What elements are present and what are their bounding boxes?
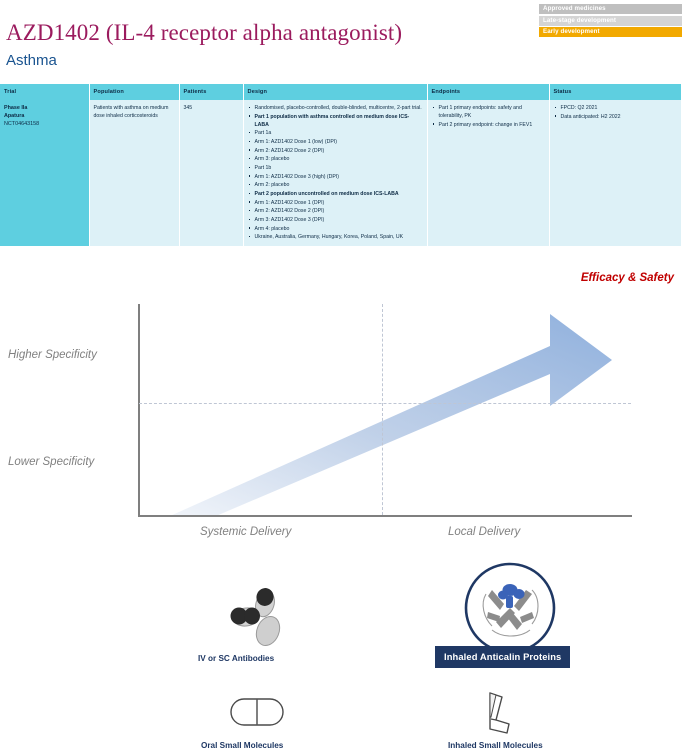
design-list: Randomised, placebo-controlled, double-b… [248, 104, 423, 241]
y-axis-label-high: Higher Specificity [8, 349, 97, 361]
list-item: Arm 3: placebo [248, 155, 423, 163]
list-item: Arm 1: AZD1402 Dose 1 (DPI) [248, 199, 423, 207]
list-item: Arm 4: placebo [248, 225, 423, 233]
list-item: Part 1 primary endpoints: safety and tol… [432, 104, 545, 120]
y-axis-label-low: Lower Specificity [8, 456, 94, 468]
cell-patients: 345 [179, 100, 243, 246]
protein-circle-icon [462, 560, 558, 656]
legend-badge-early-development[interactable]: Early development [539, 27, 682, 37]
antibody-icon [228, 587, 290, 649]
trial-table: Trial Population Patients Design Endpoin… [0, 84, 682, 246]
list-item: Part 2 primary endpoint: change in FEV1 [432, 121, 545, 129]
column-header-design[interactable]: Design [243, 84, 427, 100]
status-list: FPCD: Q2 2021Data anticipated: H2 2022 [554, 104, 677, 121]
quadrant-horizontal-divider [139, 403, 631, 404]
column-header-population[interactable]: Population [89, 84, 179, 100]
positioning-quadrant-diagram: Efficacy & Safety Higher Specificity Low… [0, 262, 682, 556]
list-item: Arm 3: AZD1402 Dose 3 (DPI) [248, 216, 423, 224]
cell-status: FPCD: Q2 2021Data anticipated: H2 2022 [549, 100, 681, 246]
pill-icon [228, 693, 288, 731]
trial-nct-id: NCT04643158 [4, 120, 85, 128]
list-item: Arm 1: AZD1402 Dose 3 (high) (DPI) [248, 173, 423, 181]
column-header-status[interactable]: Status [549, 84, 681, 100]
list-item: Ukraine, Australia, Germany, Hungary, Ko… [248, 233, 423, 241]
x-axis-label-right: Local Delivery [448, 526, 520, 538]
x-axis-line [138, 515, 632, 517]
endpoints-list: Part 1 primary endpoints: safety and tol… [432, 104, 545, 129]
trial-phase: Phase IIa [4, 104, 85, 112]
list-item: Randomised, placebo-controlled, double-b… [248, 104, 423, 112]
quadrant-label-inhaled-anticalin-proteins: Inhaled Anticalin Proteins [435, 646, 570, 668]
list-item: Data anticipated: H2 2022 [554, 113, 677, 121]
list-item: Arm 2: placebo [248, 181, 423, 189]
column-header-patients[interactable]: Patients [179, 84, 243, 100]
list-item: Part 1a [248, 129, 423, 137]
list-item: Part 1b [248, 164, 423, 172]
cell-design: Randomised, placebo-controlled, double-b… [243, 100, 427, 246]
list-item: Part 1 population with asthma controlled… [248, 113, 423, 129]
list-item: FPCD: Q2 2021 [554, 104, 677, 112]
list-item: Arm 2: AZD1402 Dose 2 (DPI) [248, 147, 423, 155]
efficacy-safety-label: Efficacy & Safety [581, 272, 674, 284]
legend-badge-approved-medicines[interactable]: Approved medicines [539, 4, 682, 14]
cell-endpoints: Part 1 primary endpoints: safety and tol… [427, 100, 549, 246]
y-axis-line [138, 304, 140, 516]
inhaler-icon [478, 690, 518, 738]
quadrant-label-inhaled-small-molecules: Inhaled Small Molecules [448, 741, 543, 750]
column-header-trial[interactable]: Trial [0, 84, 89, 100]
list-item: Arm 1: AZD1402 Dose 1 (low) (DPI) [248, 138, 423, 146]
x-axis-label-left: Systemic Delivery [200, 526, 291, 538]
quadrant-label-oral-small-molecules: Oral Small Molecules [201, 741, 283, 750]
trial-name: Apatura [4, 112, 85, 120]
list-item: Part 2 population uncontrolled on medium… [248, 190, 423, 198]
cell-population: Patients with asthma on medium dose inha… [89, 100, 179, 246]
table-header-row: Trial Population Patients Design Endpoin… [0, 84, 681, 100]
cell-trial: Phase IIa Apatura NCT04643158 [0, 100, 89, 246]
quadrant-label-antibodies: IV or SC Antibodies [198, 654, 274, 663]
status-legend: Approved medicines Late-stage developmen… [539, 4, 682, 39]
page-title: AZD1402 (IL-4 receptor alpha antagonist) [6, 20, 402, 46]
efficacy-arrow-icon [120, 304, 640, 516]
column-header-endpoints[interactable]: Endpoints [427, 84, 549, 100]
quadrant-vertical-divider [382, 304, 383, 515]
page-subtitle: Asthma [6, 52, 57, 69]
legend-badge-late-stage-development[interactable]: Late-stage development [539, 16, 682, 26]
page-header: AZD1402 (IL-4 receptor alpha antagonist)… [0, 0, 682, 82]
table-row: Phase IIa Apatura NCT04643158 Patients w… [0, 100, 681, 246]
list-item: Arm 2: AZD1402 Dose 2 (DPI) [248, 207, 423, 215]
